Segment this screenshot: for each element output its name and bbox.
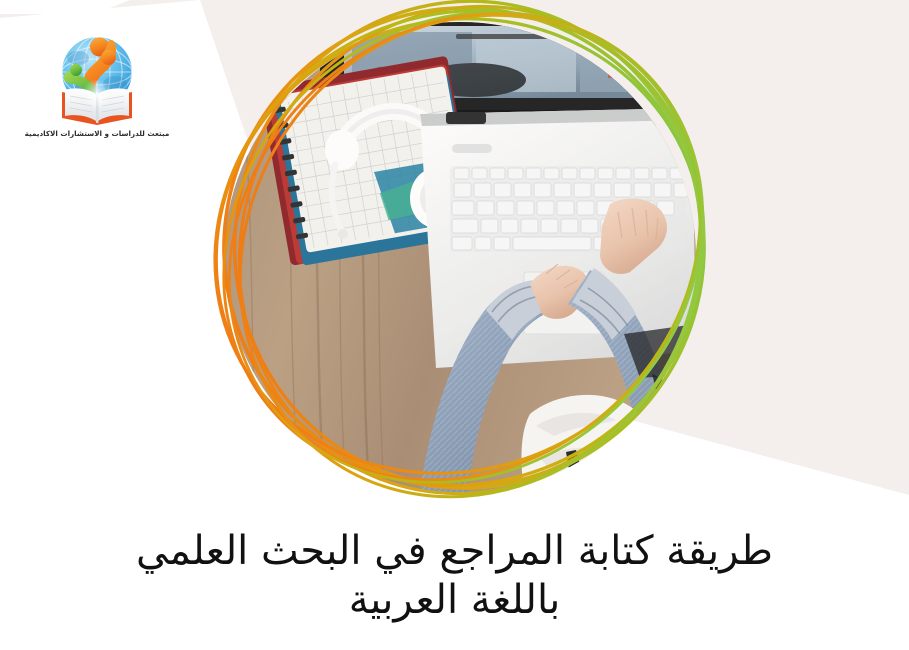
brand-logo: مبتعث للدراسات و الاستشارات الاكاديمية: [22, 26, 172, 139]
page-title-line-1: طريقة كتابة المراجع في البحث العلمي: [80, 527, 829, 576]
page-title-line-2: باللغة العربية: [80, 576, 829, 625]
globe-book-people-logo-icon: [45, 26, 149, 126]
page-title: طريقة كتابة المراجع في البحث العلمي بالل…: [0, 527, 909, 625]
hero-image-circle-mask: [224, 22, 696, 494]
hero-image: [224, 22, 696, 494]
poster-canvas: مبتعث للدراسات و الاستشارات الاكاديمية: [0, 0, 909, 650]
laptop-typing-photo: [224, 22, 696, 494]
brand-caption: مبتعث للدراسات و الاستشارات الاكاديمية: [22, 130, 172, 139]
